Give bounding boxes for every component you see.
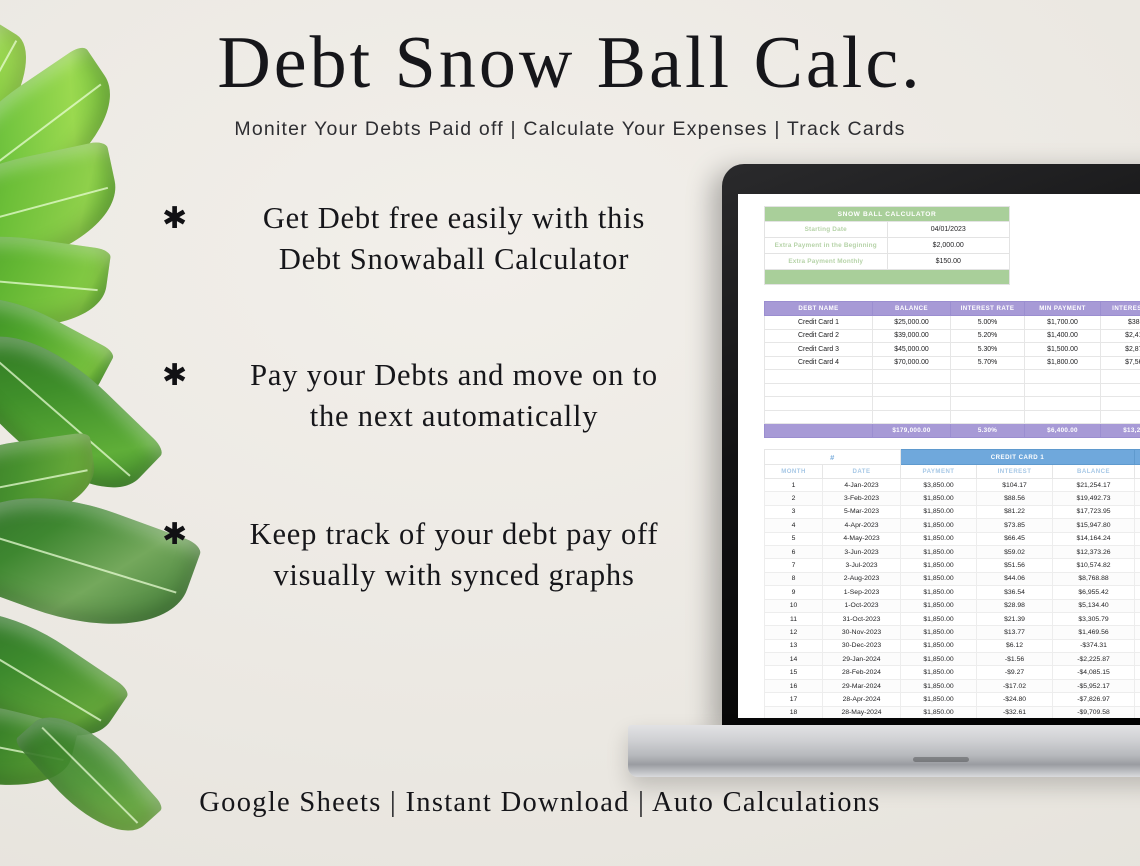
table-row: Credit Card 1$25,000.005.00%$1,700.00$38… — [765, 316, 1140, 330]
table-row: 1828-May-2024$1,850.00-$32.61-$9,709.58$… — [765, 706, 1140, 718]
schedule-group-header-row: # CREDIT CARD 1 CREDIT CARD 2 — [765, 450, 1140, 465]
asterisk-icon: ✱ — [162, 361, 187, 391]
debt-summary-table: DEBT NAMEBALANCEINTEREST RATEMIN PAYMENT… — [764, 301, 1140, 438]
table-row: Credit Card 3$45,000.005.30%$1,500.00$2,… — [765, 343, 1140, 357]
amortization-schedule-table: # CREDIT CARD 1 CREDIT CARD 2 MONTHDATEP… — [764, 449, 1140, 718]
table-cell[interactable]: 4 — [765, 519, 823, 532]
table-cell[interactable]: $104.17 — [977, 479, 1053, 492]
table-cell[interactable]: -$9.27 — [977, 666, 1053, 679]
table-cell[interactable]: $7,567.37 — [1101, 356, 1140, 370]
table-cell[interactable] — [765, 397, 873, 411]
table-cell[interactable]: -$4,085.15 — [1053, 666, 1135, 679]
table-cell[interactable]: -$1.56 — [977, 653, 1053, 666]
table-row: Credit Card 2$39,000.005.20%$1,400.00$2,… — [765, 329, 1140, 343]
table-cell[interactable]: $2,418.51 — [1101, 329, 1140, 343]
table-cell[interactable]: $13.77 — [977, 626, 1053, 639]
table-cell[interactable]: $28.98 — [977, 599, 1053, 612]
laptop-base — [628, 725, 1140, 777]
table-cell[interactable]: $25,000.00 — [873, 316, 951, 330]
table-cell[interactable]: 1-Oct-2023 — [823, 599, 901, 612]
schedule-group-hash: # — [765, 450, 901, 465]
column-header: INTEREST OWED — [1101, 302, 1140, 316]
table-cell[interactable]: $1,850.00 — [901, 505, 977, 518]
totals-cell: $179,000.00 — [873, 424, 951, 438]
table-cell[interactable]: 3 — [765, 505, 823, 518]
table-cell[interactable]: $39,000.00 — [873, 329, 951, 343]
table-cell[interactable]: 5.20% — [951, 329, 1025, 343]
table-cell[interactable]: 12 — [765, 626, 823, 639]
table-cell[interactable]: 5.30% — [951, 343, 1025, 357]
table-cell[interactable] — [951, 397, 1025, 411]
schedule-group-card2: CREDIT CARD 2 — [1135, 450, 1140, 465]
table-cell[interactable] — [1025, 410, 1101, 424]
table-cell[interactable]: $1,850.00 — [901, 612, 977, 625]
table-cell[interactable]: 31-Oct-2023 — [823, 612, 901, 625]
table-row: 54-May-2023$1,850.00$66.45$14,164.24$1,4… — [765, 532, 1140, 545]
table-cell[interactable] — [765, 383, 873, 397]
table-row: 1629-Mar-2024$1,850.00-$17.02-$5,952.17$… — [765, 679, 1140, 692]
table-cell[interactable]: $1,400.00 — [1135, 599, 1140, 612]
table-cell[interactable]: 28-Apr-2024 — [823, 693, 901, 706]
table-cell[interactable]: $73.85 — [977, 519, 1053, 532]
list-item: ✱ Keep track of your debt pay off visual… — [150, 514, 710, 595]
table-cell[interactable]: 10 — [765, 599, 823, 612]
table-header-row: DEBT NAMEBALANCEINTEREST RATEMIN PAYMENT… — [765, 302, 1140, 316]
table-cell[interactable]: $1,400.00 — [1135, 706, 1140, 718]
table-cell[interactable]: $1,850.00 — [901, 679, 977, 692]
table-row: 1230-Nov-2023$1,850.00$13.77$1,469.56$1,… — [765, 626, 1140, 639]
list-item-line2: visually with synced graphs — [273, 558, 634, 592]
table-row: 82-Aug-2023$1,850.00$44.06$8,768.88$1,40… — [765, 572, 1140, 585]
table-row: 23-Feb-2023$1,850.00$88.56$19,492.73$1,4… — [765, 492, 1140, 505]
table-cell[interactable]: 13 — [765, 639, 823, 652]
asterisk-icon: ✱ — [162, 204, 187, 234]
table-cell[interactable] — [951, 370, 1025, 384]
table-cell[interactable]: -$374.31 — [1053, 639, 1135, 652]
table-cell[interactable]: $1,850.00 — [901, 492, 977, 505]
table-cell[interactable] — [873, 410, 951, 424]
settings-value[interactable]: 04/01/2023 — [887, 222, 1010, 238]
totals-cell — [765, 424, 873, 438]
table-row: 101-Oct-2023$1,850.00$28.98$5,134.40$1,4… — [765, 599, 1140, 612]
table-cell[interactable]: Credit Card 4 — [765, 356, 873, 370]
table-cell[interactable]: $1,850.00 — [901, 532, 977, 545]
table-cell[interactable]: $1,850.00 — [901, 599, 977, 612]
table-cell[interactable]: 3-Feb-2023 — [823, 492, 901, 505]
table-cell[interactable]: 1 — [765, 479, 823, 492]
settings-table: SNOW BALL CALCULATOR Starting Date 04/01… — [764, 206, 1010, 285]
table-cell[interactable]: -$32.61 — [977, 706, 1053, 718]
table-cell[interactable]: $1,850.00 — [901, 693, 977, 706]
column-header: BALANCE — [1053, 465, 1135, 479]
table-cell[interactable]: 11 — [765, 612, 823, 625]
settings-value[interactable]: $2,000.00 — [887, 238, 1010, 254]
table-cell[interactable]: $1,850.00 — [901, 706, 977, 718]
table-cell[interactable]: $1,850.00 — [901, 626, 977, 639]
table-cell[interactable]: $1,400.00 — [1135, 666, 1140, 679]
table-cell[interactable]: 3-Jun-2023 — [823, 545, 901, 558]
table-cell[interactable]: 4-Jan-2023 — [823, 479, 901, 492]
table-cell[interactable]: $66.45 — [977, 532, 1053, 545]
table-cell[interactable]: $1,400.00 — [1135, 626, 1140, 639]
table-cell[interactable]: 2-Aug-2023 — [823, 572, 901, 585]
table-cell[interactable]: -$7,826.97 — [1053, 693, 1135, 706]
column-header: INTEREST RATE — [951, 302, 1025, 316]
schedule-column-header-row: MONTHDATEPAYMENTINTERESTBALANCEPAYMENTIN… — [765, 465, 1140, 479]
totals-cell: $13,243.60 — [1101, 424, 1140, 438]
table-cell[interactable]: $1,400.00 — [1135, 612, 1140, 625]
table-cell[interactable]: $15,947.80 — [1053, 519, 1135, 532]
table-row: 44-Apr-2023$1,850.00$73.85$15,947.80$1,4… — [765, 519, 1140, 532]
table-row: 1528-Feb-2024$1,850.00-$9.27-$4,085.15$1… — [765, 666, 1140, 679]
table-cell[interactable]: 7 — [765, 559, 823, 572]
table-cell[interactable]: $1,800.00 — [1025, 356, 1101, 370]
table-totals-row: $179,000.005.30%$6,400.00$13,243.60150 — [765, 424, 1140, 438]
table-cell[interactable]: 29-Mar-2024 — [823, 679, 901, 692]
table-cell[interactable]: $45,000.00 — [873, 343, 951, 357]
table-cell[interactable]: 5-Mar-2023 — [823, 505, 901, 518]
table-row — [765, 410, 1140, 424]
column-header: MONTH — [765, 465, 823, 479]
table-cell[interactable]: 28-May-2024 — [823, 706, 901, 718]
table-cell[interactable]: $88.56 — [977, 492, 1053, 505]
table-cell[interactable]: $36.54 — [977, 586, 1053, 599]
table-row: 73-Jul-2023$1,850.00$51.56$10,574.82$1,4… — [765, 559, 1140, 572]
laptop-mockup: SNOW BALL CALCULATOR Starting Date 04/01… — [708, 160, 1140, 800]
laptop-screen: SNOW BALL CALCULATOR Starting Date 04/01… — [738, 194, 1140, 718]
table-cell[interactable]: $6.12 — [977, 639, 1053, 652]
table-cell[interactable]: 5 — [765, 532, 823, 545]
feature-list: ✱ Get Debt free easily with this Debt Sn… — [150, 198, 710, 671]
table-cell[interactable]: $17,723.95 — [1053, 505, 1135, 518]
table-cell[interactable]: 16 — [765, 679, 823, 692]
table-cell[interactable]: $1,400.00 — [1135, 679, 1140, 692]
table-cell[interactable]: $59.02 — [977, 545, 1053, 558]
table-cell[interactable]: $1,400.00 — [1135, 559, 1140, 572]
column-header: DATE — [823, 465, 901, 479]
asterisk-icon: ✱ — [162, 520, 187, 550]
table-cell[interactable]: 14 — [765, 653, 823, 666]
table-cell[interactable]: $21.39 — [977, 612, 1053, 625]
table-cell[interactable]: 2 — [765, 492, 823, 505]
table-cell[interactable]: 8 — [765, 572, 823, 585]
table-cell[interactable]: 30-Dec-2023 — [823, 639, 901, 652]
table-cell[interactable]: $1,850.00 — [901, 639, 977, 652]
table-cell[interactable]: $5,134.40 — [1053, 599, 1135, 612]
totals-cell: 5.30% — [951, 424, 1025, 438]
page-subtitle: Moniter Your Debts Paid off | Calculate … — [0, 118, 1140, 141]
table-cell[interactable]: 28-Feb-2024 — [823, 666, 901, 679]
table-row: 14-Jan-2023$3,850.00$104.17$21,254.17$1,… — [765, 479, 1140, 492]
table-cell[interactable]: $19,492.73 — [1053, 492, 1135, 505]
table-cell[interactable]: 9 — [765, 586, 823, 599]
table-cell[interactable]: -$2,225.87 — [1053, 653, 1135, 666]
table-cell[interactable]: 4-Apr-2023 — [823, 519, 901, 532]
table-cell[interactable]: $10,574.82 — [1053, 559, 1135, 572]
table-cell[interactable]: 30-Nov-2023 — [823, 626, 901, 639]
table-cell[interactable] — [1101, 397, 1140, 411]
table-cell[interactable]: -$24.80 — [977, 693, 1053, 706]
list-item-line2: Debt Snowaball Calculator — [279, 242, 629, 276]
table-cell[interactable]: $1,850.00 — [901, 519, 977, 532]
table-cell[interactable]: $1,850.00 — [901, 559, 977, 572]
table-cell[interactable] — [1025, 370, 1101, 384]
laptop-lid: SNOW BALL CALCULATOR Starting Date 04/01… — [722, 164, 1140, 729]
table-row: 1330-Dec-2023$1,850.00$6.12-$374.31$1,40… — [765, 639, 1140, 652]
table-cell[interactable]: $21,254.17 — [1053, 479, 1135, 492]
column-header: BALANCE — [873, 302, 951, 316]
table-row: Credit Card 4$70,000.005.70%$1,800.00$7,… — [765, 356, 1140, 370]
table-row: 1131-Oct-2023$1,850.00$21.39$3,305.79$1,… — [765, 612, 1140, 625]
table-cell[interactable] — [873, 397, 951, 411]
table-cell[interactable] — [1101, 410, 1140, 424]
column-header: PAYMENT — [901, 465, 977, 479]
page-title: Debt Snow Ball Calc. — [0, 26, 1140, 101]
table-cell[interactable]: 17 — [765, 693, 823, 706]
table-cell[interactable] — [951, 410, 1025, 424]
table-cell[interactable]: -$5,952.17 — [1053, 679, 1135, 692]
table-cell[interactable] — [1025, 383, 1101, 397]
table-cell[interactable]: 18 — [765, 706, 823, 718]
table-cell[interactable]: 15 — [765, 666, 823, 679]
table-cell[interactable]: $1,700.00 — [1025, 316, 1101, 330]
list-item: ✱ Get Debt free easily with this Debt Sn… — [150, 198, 710, 279]
table-cell[interactable]: $1,469.56 — [1053, 626, 1135, 639]
table-cell[interactable]: 3-Jul-2023 — [823, 559, 901, 572]
table-cell[interactable] — [1101, 370, 1140, 384]
table-cell[interactable] — [873, 383, 951, 397]
table-cell[interactable]: 5.70% — [951, 356, 1025, 370]
table-cell[interactable]: $14,164.24 — [1053, 532, 1135, 545]
table-row: 35-Mar-2023$1,850.00$81.22$17,723.95$1,4… — [765, 505, 1140, 518]
table-cell[interactable]: 29-Jan-2024 — [823, 653, 901, 666]
table-row: 1728-Apr-2024$1,850.00-$24.80-$7,826.97$… — [765, 693, 1140, 706]
table-row — [765, 370, 1140, 384]
column-header: MIN PAYMENT — [1025, 302, 1101, 316]
table-cell[interactable]: 1-Sep-2023 — [823, 586, 901, 599]
table-cell[interactable]: $1,850.00 — [901, 666, 977, 679]
table-cell[interactable]: $1,850.00 — [901, 545, 977, 558]
table-row: 63-Jun-2023$1,850.00$59.02$12,373.26$1,4… — [765, 545, 1140, 558]
table-cell[interactable]: $3,305.79 — [1053, 612, 1135, 625]
settings-label: Starting Date — [765, 222, 888, 238]
table-cell[interactable]: $1,850.00 — [901, 572, 977, 585]
table-cell[interactable]: $8,768.88 — [1053, 572, 1135, 585]
table-cell[interactable]: Credit Card 2 — [765, 329, 873, 343]
table-row — [765, 397, 1140, 411]
table-cell[interactable]: $1,400.00 — [1135, 693, 1140, 706]
table-cell[interactable] — [765, 410, 873, 424]
table-row: 1429-Jan-2024$1,850.00-$1.56-$2,225.87$1… — [765, 653, 1140, 666]
column-header: DEBT NAME — [765, 302, 873, 316]
table-cell[interactable]: $1,400.00 — [1135, 479, 1140, 492]
table-cell[interactable]: $44.06 — [977, 572, 1053, 585]
table-row — [765, 383, 1140, 397]
table-cell[interactable]: $2,876.52 — [1101, 343, 1140, 357]
table-cell[interactable]: $70,000.00 — [873, 356, 951, 370]
totals-cell: $6,400.00 — [1025, 424, 1101, 438]
table-cell[interactable]: $1,400.00 — [1135, 532, 1140, 545]
schedule-group-card1: CREDIT CARD 1 — [901, 450, 1135, 465]
table-cell[interactable]: $1,850.00 — [901, 653, 977, 666]
table-cell[interactable]: $1,400.00 — [1135, 639, 1140, 652]
table-cell[interactable]: $1,400.00 — [1135, 505, 1140, 518]
table-cell[interactable]: $1,400.00 — [1135, 653, 1140, 666]
table-cell[interactable]: 4-May-2023 — [823, 532, 901, 545]
column-header: INTEREST — [977, 465, 1053, 479]
table-cell[interactable]: $381.20 — [1101, 316, 1140, 330]
list-item-line2: the next automatically — [310, 399, 599, 433]
table-cell[interactable]: $6,955.42 — [1053, 586, 1135, 599]
table-row: 91-Sep-2023$1,850.00$36.54$6,955.42$1,40… — [765, 586, 1140, 599]
table-cell[interactable]: Credit Card 3 — [765, 343, 873, 357]
table-cell[interactable] — [765, 370, 873, 384]
table-cell[interactable] — [873, 370, 951, 384]
settings-footer-band — [765, 270, 1010, 285]
settings-value[interactable]: $150.00 — [887, 254, 1010, 270]
table-cell[interactable]: $1,400.00 — [1135, 545, 1140, 558]
column-header: PAYMENT — [1135, 465, 1140, 479]
table-cell[interactable]: $1,400.00 — [1025, 329, 1101, 343]
table-cell[interactable] — [1025, 397, 1101, 411]
table-cell[interactable]: $1,500.00 — [1025, 343, 1101, 357]
table-cell[interactable]: 6 — [765, 545, 823, 558]
spreadsheet: SNOW BALL CALCULATOR Starting Date 04/01… — [764, 206, 1140, 718]
table-cell[interactable]: $1,850.00 — [901, 586, 977, 599]
table-cell[interactable]: -$17.02 — [977, 679, 1053, 692]
table-cell[interactable]: $1,400.00 — [1135, 492, 1140, 505]
settings-label: Extra Payment Monthly — [765, 254, 888, 270]
settings-title: SNOW BALL CALCULATOR — [765, 207, 1010, 222]
table-cell[interactable]: $1,400.00 — [1135, 519, 1140, 532]
table-cell[interactable]: -$9,709.58 — [1053, 706, 1135, 718]
list-item-line1: Keep track of your debt pay off — [250, 517, 659, 551]
table-cell[interactable]: $12,373.26 — [1053, 545, 1135, 558]
table-cell[interactable]: $1,400.00 — [1135, 586, 1140, 599]
list-item-line1: Pay your Debts and move on to — [250, 358, 658, 392]
list-item-line1: Get Debt free easily with this — [263, 201, 645, 235]
table-cell[interactable] — [951, 383, 1025, 397]
list-item: ✱ Pay your Debts and move on to the next… — [150, 355, 710, 436]
table-cell[interactable]: 5.00% — [951, 316, 1025, 330]
settings-label: Extra Payment in the Beginning — [765, 238, 888, 254]
listing-canvas: Debt Snow Ball Calc. Moniter Your Debts … — [0, 0, 1140, 866]
table-cell[interactable]: $3,850.00 — [901, 479, 977, 492]
table-cell[interactable]: $51.56 — [977, 559, 1053, 572]
table-cell[interactable] — [1101, 383, 1140, 397]
table-cell[interactable]: $81.22 — [977, 505, 1053, 518]
table-cell[interactable]: $1,400.00 — [1135, 572, 1140, 585]
table-cell[interactable]: Credit Card 1 — [765, 316, 873, 330]
